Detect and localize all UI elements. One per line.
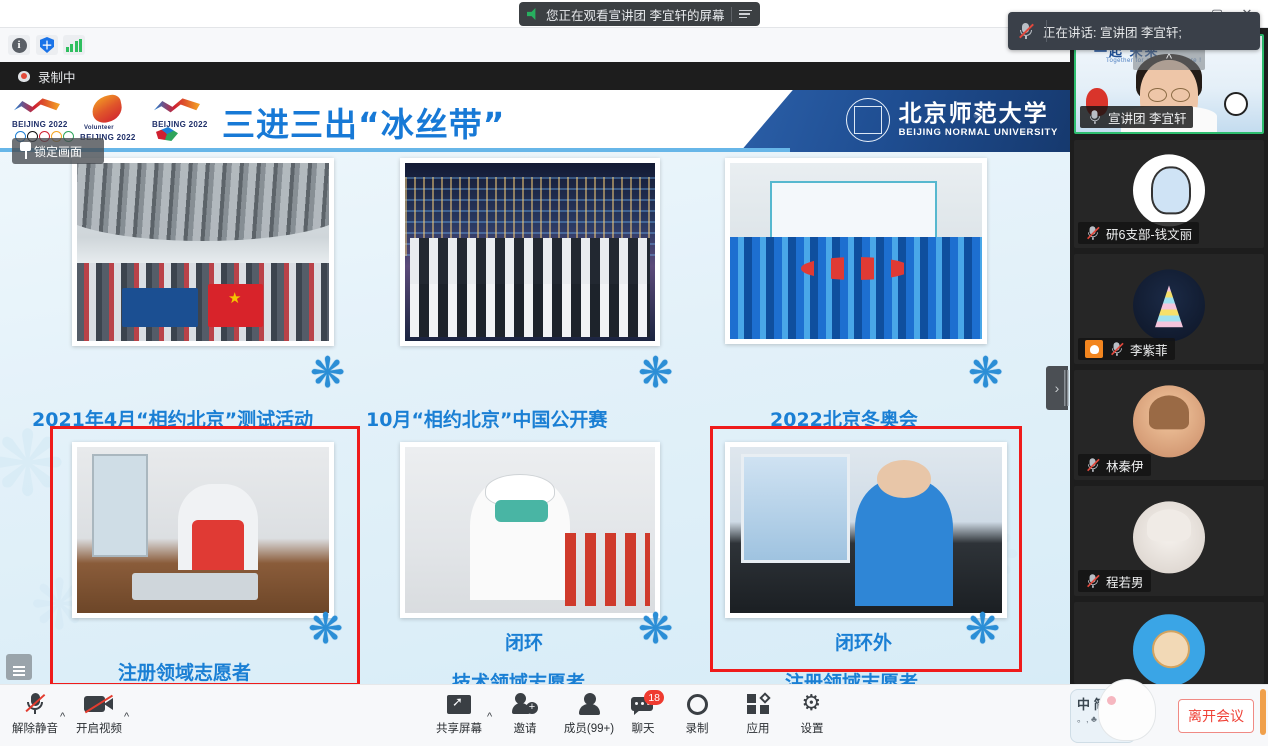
banner-underline xyxy=(0,148,790,152)
sharing-notice-pill[interactable]: 您正在观看宣讲团 李宜轩的屏幕 xyxy=(519,2,760,26)
avatar xyxy=(1133,385,1205,457)
share-screen-button[interactable]: 共享屏幕 xyxy=(428,691,490,741)
share-screen-icon xyxy=(447,695,471,714)
info-icon: i xyxy=(12,38,27,53)
photo-outside-loop xyxy=(725,442,1007,618)
participant-name-bar: 林秦伊 xyxy=(1078,454,1151,476)
chat-button[interactable]: 18 聊天 xyxy=(612,691,674,741)
gear-icon xyxy=(802,694,823,715)
meeting-info-button[interactable]: i xyxy=(8,35,30,55)
participant-tile-1[interactable]: 研6支部-钱文丽 xyxy=(1074,140,1264,248)
photo-registration-volunteer xyxy=(72,442,334,618)
camera-off-icon xyxy=(84,694,114,714)
chevron-up-icon[interactable]: ^ xyxy=(487,711,492,723)
panel-drag-handle[interactable] xyxy=(1064,370,1069,406)
participant-name-bar: 程若男 xyxy=(1078,570,1151,592)
participant-name: 李紫菲 xyxy=(1130,340,1168,359)
avatar xyxy=(1133,154,1205,226)
slide-banner: BEIJING 2022 Volunteer BEIJING 2022 BEIJ… xyxy=(0,90,1070,152)
hamburger-icon[interactable] xyxy=(739,10,752,19)
chevron-up-icon[interactable]: ^ xyxy=(60,711,65,723)
scroll-indicator[interactable] xyxy=(1260,689,1266,735)
avatar xyxy=(1133,614,1205,684)
ime-indicator[interactable]: 中 简 。, ♣ xyxy=(1070,685,1170,746)
mic-muted-icon xyxy=(1086,225,1099,240)
olympic-mark-label: BEIJING 2022 xyxy=(152,120,208,129)
snowflake-icon: ❋ xyxy=(638,608,673,650)
mic-icon xyxy=(1088,109,1101,124)
snowflake-icon: ❋ xyxy=(965,608,1000,650)
signal-bars-icon xyxy=(66,39,83,52)
apps-button[interactable]: 应用 xyxy=(727,691,789,741)
list-icon[interactable] xyxy=(6,654,32,680)
beijing2022-paralympic-logo: BEIJING 2022 xyxy=(148,93,210,149)
mic-muted-icon xyxy=(1110,341,1123,356)
volunteer-label: Volunteer xyxy=(84,125,114,131)
participant-rail[interactable]: 一起 未来 Together for a Shared Future ! ^ 宣… xyxy=(1070,28,1268,684)
sharing-notice-text: 您正在观看宣讲团 李宜轩的屏幕 xyxy=(546,5,724,24)
snowflake-icon: ❋ xyxy=(310,352,345,394)
glasses-icon xyxy=(1148,88,1190,102)
avatar xyxy=(1133,269,1205,341)
mic-muted-icon xyxy=(1018,22,1033,40)
participant-tile-5[interactable] xyxy=(1074,602,1264,684)
participant-tile-3[interactable]: 林秦伊 xyxy=(1074,370,1264,480)
encryption-button[interactable]: ＋ xyxy=(36,35,58,55)
recording-strip: 录制中 xyxy=(0,62,1070,90)
toolbar-label: 邀请 xyxy=(514,720,537,736)
toolbar-label: 录制 xyxy=(686,720,709,736)
photo-caption-top: 闭环 xyxy=(505,628,543,655)
participant-tile-2[interactable]: 李紫菲 xyxy=(1074,254,1264,364)
participant-name: 宣讲团 李宜轩 xyxy=(1108,108,1186,127)
toolbar-label: 成员(99+) xyxy=(564,720,614,736)
toolbar-label: 解除静音 xyxy=(12,720,58,736)
chat-unread-badge: 18 xyxy=(644,690,664,705)
start-video-button[interactable]: 开启视频 xyxy=(68,691,130,741)
shared-screen-area: 录制中 ❋ ❋ ❋ BEIJING 2022 Volunteer xyxy=(0,62,1070,684)
recording-icon xyxy=(18,71,30,82)
host-badge-icon xyxy=(1085,340,1103,358)
recording-label: 录制中 xyxy=(38,67,76,86)
participant-name-bar: 研6支部-钱文丽 xyxy=(1078,222,1199,244)
meeting-window: 您正在观看宣讲团 李宜轩的屏幕 — ▢ ✕ 正在讲话: 宣讲团 李宜轩; i ＋ xyxy=(0,0,1268,746)
presentation-slide: ❋ ❋ ❋ BEIJING 2022 Volunteer BEIJING 202… xyxy=(0,90,1070,684)
avatar xyxy=(1133,501,1205,573)
settings-button[interactable]: 设置 xyxy=(781,691,843,741)
university-name-en: BEIJING NORMAL UNIVERSITY xyxy=(899,127,1058,138)
photo-olympics xyxy=(725,158,987,344)
shield-icon: ＋ xyxy=(40,37,54,53)
ime-mascot-icon xyxy=(1098,679,1156,741)
leave-meeting-button[interactable]: 离开会议 xyxy=(1178,699,1254,733)
olympic-mark-label: BEIJING 2022 xyxy=(12,120,68,129)
record-button[interactable]: 录制 xyxy=(666,691,728,741)
bing-dwen-dwen-mascot xyxy=(1224,92,1248,116)
photo-test-event xyxy=(72,158,334,346)
participant-tile-4[interactable]: 程若男 xyxy=(1074,486,1264,596)
university-name-cn: 北京师范大学 xyxy=(899,102,1058,126)
snowflake-icon: ❋ xyxy=(968,352,1003,394)
speaking-toast-text: 正在讲话: 宣讲团 李宜轩; xyxy=(1043,22,1182,41)
participant-name-bar: 宣讲团 李宜轩 xyxy=(1080,106,1193,128)
photo-caption: 注册领域志愿者 xyxy=(118,658,251,684)
photo-open xyxy=(400,158,660,346)
chevron-up-icon[interactable]: ^ xyxy=(124,711,129,723)
photo-caption: 10月“相约北京”中国公开赛 xyxy=(366,405,607,432)
toolbar-label: 开启视频 xyxy=(76,720,122,736)
participant-name: 程若男 xyxy=(1106,572,1144,591)
snowflake-icon: ❋ xyxy=(638,352,673,394)
record-icon xyxy=(687,694,708,715)
toolbar-label: 设置 xyxy=(801,720,824,736)
pill-divider xyxy=(731,7,732,22)
photo-caption: 注册领域志愿者 xyxy=(785,668,918,684)
snowflake-icon: ❋ xyxy=(308,608,343,650)
speaker-icon xyxy=(527,8,539,20)
unmute-button[interactable]: 解除静音 xyxy=(4,691,66,741)
mic-muted-icon xyxy=(1086,457,1099,472)
participants-icon xyxy=(578,693,600,715)
speaking-toast: 正在讲话: 宣讲团 李宜轩; xyxy=(1008,12,1260,50)
invite-button[interactable]: + 邀请 xyxy=(494,691,556,741)
photo-caption: 技术领域志愿者 xyxy=(452,668,585,684)
participant-name: 林秦伊 xyxy=(1106,456,1144,475)
chat-icon: 18 xyxy=(631,694,655,714)
meeting-toolbar: 解除静音 ^ 开启视频 ^ 共享屏幕 ^ + 邀请 成员(99+) xyxy=(0,684,1268,746)
pin-icon[interactable] xyxy=(18,142,34,160)
ime-secondary-label: 。, ♣ xyxy=(1077,712,1097,725)
toolbar-label: 应用 xyxy=(747,720,770,736)
photo-tech-volunteer xyxy=(400,442,660,618)
network-quality-button[interactable] xyxy=(63,35,85,55)
invite-icon: + xyxy=(512,693,538,715)
participant-name-bar: 李紫菲 xyxy=(1078,338,1175,360)
university-seal-icon xyxy=(846,98,890,142)
photo-caption-top: 闭环外 xyxy=(835,628,892,655)
slide-title: 三进三出“冰丝带” xyxy=(222,98,505,146)
toolbar-label: 共享屏幕 xyxy=(436,720,482,736)
mic-muted-icon xyxy=(1086,573,1099,588)
university-logo: 北京师范大学 BEIJING NORMAL UNIVERSITY xyxy=(846,98,1058,142)
mic-muted-icon xyxy=(25,692,45,716)
apps-icon xyxy=(747,694,769,714)
toolbar-label: 聊天 xyxy=(632,720,655,736)
participant-name: 研6支部-钱文丽 xyxy=(1106,224,1192,243)
